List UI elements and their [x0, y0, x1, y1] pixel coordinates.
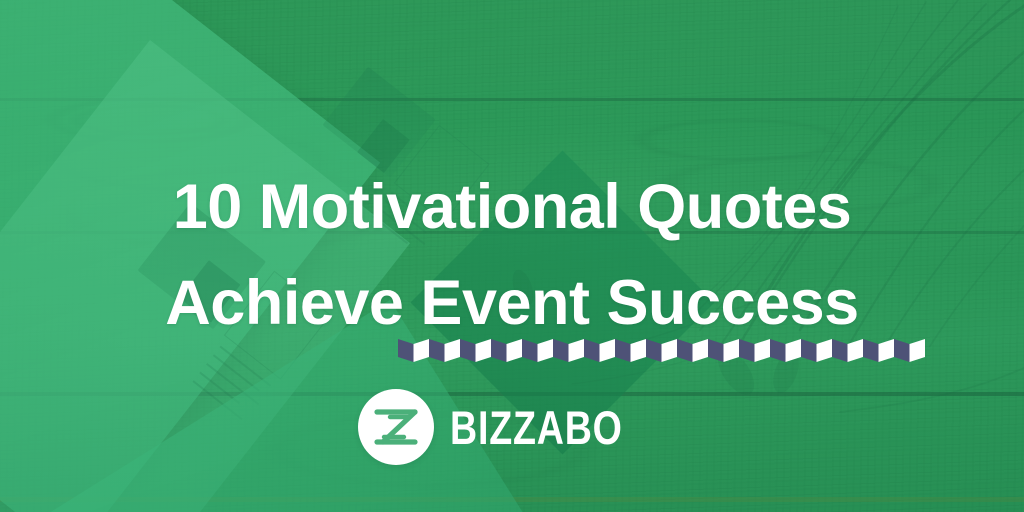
zigzag-segment [584, 339, 615, 362]
zigzag-segment [894, 339, 925, 362]
headline-line-2: Achieve Event Success [0, 272, 1024, 335]
zigzag-segment [522, 339, 553, 362]
zigzag-chevron-divider-icon [398, 339, 925, 362]
zigzag-segment [615, 339, 646, 362]
zigzag-segment [863, 339, 894, 362]
zigzag-segment [677, 339, 708, 362]
zigzag-segment [553, 339, 584, 362]
zigzag-segment [708, 339, 739, 362]
zigzag-segment [491, 339, 522, 362]
bizzabo-blog-header-banner: 10 Motivational Quotes Achieve Event Suc… [0, 0, 1024, 512]
zigzag-segment [398, 339, 429, 362]
zigzag-segment [801, 339, 832, 362]
bizzabo-wordmark: BIZZABO [450, 404, 623, 451]
bizzabo-z-mark-icon [358, 389, 434, 465]
bizzabo-logo-lockup[interactable]: BIZZABO [0, 389, 1024, 465]
zigzag-segment [770, 339, 801, 362]
zigzag-segment [460, 339, 491, 362]
zigzag-segment [739, 339, 770, 362]
headline-line-1: 10 Motivational Quotes [0, 176, 1024, 239]
zigzag-segment [429, 339, 460, 362]
zigzag-segment [832, 339, 863, 362]
zigzag-segment [646, 339, 677, 362]
